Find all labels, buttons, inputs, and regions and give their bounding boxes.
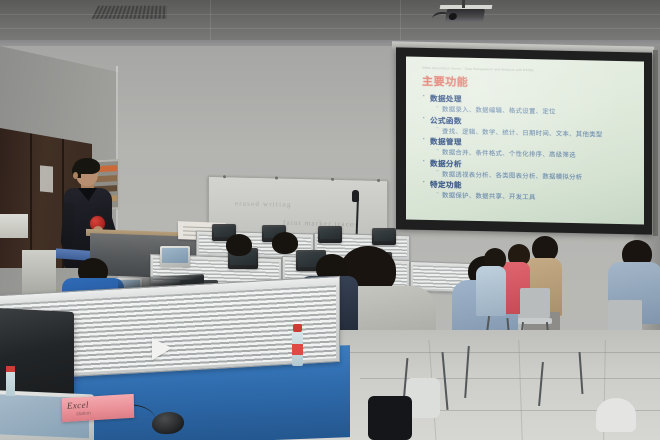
- folding-chair: [520, 288, 550, 318]
- slide-section: 公式函数 查找、逻辑、数学、统计、日期时间、文本、其他类型: [422, 114, 636, 138]
- projector-arm: [462, 0, 465, 8]
- bottle-cap: [293, 324, 302, 332]
- projector-lens: [448, 13, 457, 20]
- slide-title: 主要功能: [422, 73, 636, 93]
- presenter-ear: [73, 172, 78, 179]
- projector-icon: [445, 9, 485, 22]
- front-equipment-box: [0, 214, 28, 238]
- whiteboard-ghost-text: erased writing: [235, 199, 292, 208]
- folding-chair: [608, 300, 642, 332]
- projection-screen: Office Automation Series · Data Manageme…: [396, 47, 652, 234]
- microphone-icon: [352, 190, 359, 202]
- slide-content: Office Automation Series · Data Manageme…: [406, 57, 644, 225]
- slide-section: 数据处理 数据录入、数据编辑、格式设置、定位: [422, 93, 636, 117]
- computer-tower: [22, 250, 56, 294]
- slide-section: 数据分析 数据透视表分析、各类图表分析、数据模拟分析: [422, 157, 636, 181]
- screen-side-rail: [653, 50, 658, 236]
- audience-legs: [368, 396, 412, 440]
- label-card-subtext: station: [76, 410, 91, 417]
- door-notice: [40, 165, 53, 192]
- monitor: [318, 226, 342, 243]
- classroom-photo: Office Automation Series · Data Manageme…: [0, 0, 660, 440]
- ceiling-vent-icon: [92, 6, 168, 19]
- label-card-text: Excel: [67, 400, 89, 411]
- monitor: [160, 246, 190, 267]
- bottle-label: [292, 344, 303, 355]
- desk-label-card: Excel station: [62, 394, 135, 422]
- slide-section: 数据管理 数据合并、条件格式、个性化排序、高级筛选: [422, 136, 636, 160]
- chair-seat: [596, 398, 636, 432]
- monitor: [372, 228, 396, 245]
- bottle-cap: [6, 366, 15, 372]
- screen-surface: Office Automation Series · Data Manageme…: [406, 57, 644, 225]
- water-bottle: [6, 370, 15, 396]
- slide-section: 特定功能 数据保护、数据共享、开发工具: [422, 179, 636, 203]
- paper-cone: [152, 338, 172, 360]
